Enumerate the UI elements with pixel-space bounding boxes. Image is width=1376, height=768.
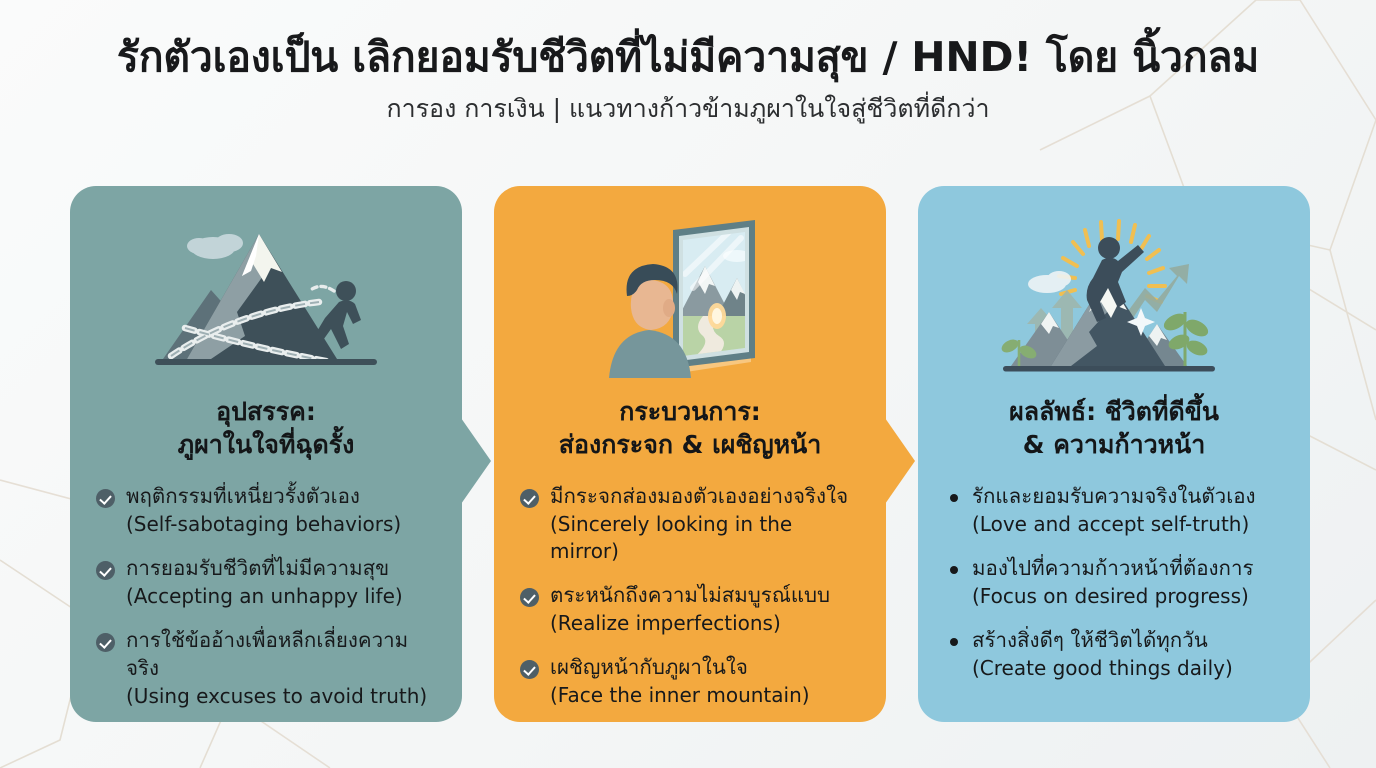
check-circle-icon	[520, 660, 539, 679]
bullet-text: เผชิญหน้ากับภูผาในใจ (Face the inner mou…	[550, 654, 810, 709]
bullet-text-en: (Focus on desired progress)	[972, 583, 1253, 610]
check-circle-icon	[96, 561, 115, 580]
summit-success-icon	[940, 212, 1288, 388]
bullet-text-th: สร้างสิ่งดีๆ ให้ชีวิตได้ทุกวัน	[972, 628, 1208, 652]
bullet-text-en: (Self-sabotaging behaviors)	[126, 511, 401, 538]
flow-arrow-2	[885, 418, 919, 504]
bullet-text-en: (Sincerely looking in the mirror)	[550, 511, 860, 565]
bullet-list: มีกระจกส่องมองตัวเองอย่างจริงใจ (Sincere…	[516, 483, 864, 709]
bullet-text-en: (Create good things daily)	[972, 655, 1233, 682]
list-item: การยอมรับชีวิตที่ไม่มีความสุข (Accepting…	[96, 555, 436, 610]
bullet-dot-icon	[950, 494, 958, 502]
bullet-text-en: (Love and accept self-truth)	[972, 511, 1256, 538]
check-circle-icon	[520, 588, 539, 607]
bullet-text: สร้างสิ่งดีๆ ให้ชีวิตได้ทุกวัน (Create g…	[972, 627, 1233, 682]
chained-mountain-icon	[92, 212, 440, 388]
list-item: สร้างสิ่งดีๆ ให้ชีวิตได้ทุกวัน (Create g…	[944, 627, 1284, 682]
panel-outcome[interactable]: ผลลัพธ์: ชีวิตที่ดีขึ้น & ความก้าวหน้า ร…	[918, 186, 1310, 722]
bullet-text-th: มีกระจกส่องมองตัวเองอย่างจริงใจ	[550, 484, 848, 508]
list-item: ตระหนักถึงความไม่สมบูรณ์แบบ (Realize imp…	[520, 582, 860, 637]
check-circle-icon	[96, 633, 115, 652]
panel-row: อุปสรรค: ภูผาในใจที่ฉุดรั้ง พฤติกรรมที่เ…	[70, 186, 1310, 722]
page-header: รักตัวเองเป็น เลิกยอมรับชีวิตที่ไม่มีควา…	[0, 0, 1376, 124]
list-item: มีกระจกส่องมองตัวเองอย่างจริงใจ (Sincere…	[520, 483, 860, 565]
panel-heading: อุปสรรค: ภูผาในใจที่ฉุดรั้ง	[92, 396, 440, 461]
bullet-text-th: พฤติกรรมที่เหนี่ยวรั้งตัวเอง	[126, 484, 360, 508]
bullet-text-th: การยอมรับชีวิตที่ไม่มีความสุข	[126, 556, 389, 580]
page-title: รักตัวเองเป็น เลิกยอมรับชีวิตที่ไม่มีควา…	[0, 34, 1376, 82]
bullet-text-en: (Using excuses to avoid truth)	[126, 683, 436, 710]
list-item: พฤติกรรมที่เหนี่ยวรั้งตัวเอง (Self-sabot…	[96, 483, 436, 538]
bullet-text: มองไปที่ความก้าวหน้าที่ต้องการ (Focus on…	[972, 555, 1253, 610]
bullet-text-en: (Accepting an unhappy life)	[126, 583, 403, 610]
check-circle-icon	[96, 489, 115, 508]
bullet-text-en: (Face the inner mountain)	[550, 682, 810, 709]
bullet-text-en: (Realize imperfections)	[550, 610, 830, 637]
list-item: เผชิญหน้ากับภูผาในใจ (Face the inner mou…	[520, 654, 860, 709]
bullet-dot-icon	[950, 638, 958, 646]
bullet-text: การใช้ข้ออ้างเพื่อหลีกเลี่ยงความจริง (Us…	[126, 627, 436, 710]
infographic-page: รักตัวเองเป็น เลิกยอมรับชีวิตที่ไม่มีควา…	[0, 0, 1376, 768]
bullet-text: ตระหนักถึงความไม่สมบูรณ์แบบ (Realize imp…	[550, 582, 830, 637]
panel-heading: กระบวนการ: ส่องกระจก & เผชิญหน้า	[516, 396, 864, 461]
bullet-text-th: มองไปที่ความก้าวหน้าที่ต้องการ	[972, 556, 1253, 580]
panel-heading: ผลลัพธ์: ชีวิตที่ดีขึ้น & ความก้าวหน้า	[940, 396, 1288, 461]
page-subtitle: การอง การเงิน | แนวทางก้าวข้ามภูผาในใจสู…	[0, 94, 1376, 124]
bullet-list: พฤติกรรมที่เหนี่ยวรั้งตัวเอง (Self-sabot…	[92, 483, 440, 710]
bullet-dot-icon	[950, 566, 958, 574]
bullet-list: รักและยอมรับความจริงในตัวเอง (Love and a…	[940, 483, 1288, 682]
bullet-text-th: รักและยอมรับความจริงในตัวเอง	[972, 484, 1256, 508]
flow-arrow-1	[461, 418, 495, 504]
check-circle-icon	[520, 489, 539, 508]
panel-process[interactable]: กระบวนการ: ส่องกระจก & เผชิญหน้า มีกระจก…	[494, 186, 886, 722]
bullet-text: พฤติกรรมที่เหนี่ยวรั้งตัวเอง (Self-sabot…	[126, 483, 401, 538]
panel-obstacle[interactable]: อุปสรรค: ภูผาในใจที่ฉุดรั้ง พฤติกรรมที่เ…	[70, 186, 462, 722]
list-item: การใช้ข้ออ้างเพื่อหลีกเลี่ยงความจริง (Us…	[96, 627, 436, 710]
bullet-text-th: การใช้ข้ออ้างเพื่อหลีกเลี่ยงความจริง	[126, 628, 408, 680]
bullet-text-th: ตระหนักถึงความไม่สมบูรณ์แบบ	[550, 583, 830, 607]
bullet-text-th: เผชิญหน้ากับภูผาในใจ	[550, 655, 748, 679]
list-item: มองไปที่ความก้าวหน้าที่ต้องการ (Focus on…	[944, 555, 1284, 610]
bullet-text: มีกระจกส่องมองตัวเองอย่างจริงใจ (Sincere…	[550, 483, 860, 565]
bullet-text: รักและยอมรับความจริงในตัวเอง (Love and a…	[972, 483, 1256, 538]
person-facing-mirror-icon	[516, 212, 864, 388]
bullet-text: การยอมรับชีวิตที่ไม่มีความสุข (Accepting…	[126, 555, 403, 610]
list-item: รักและยอมรับความจริงในตัวเอง (Love and a…	[944, 483, 1284, 538]
